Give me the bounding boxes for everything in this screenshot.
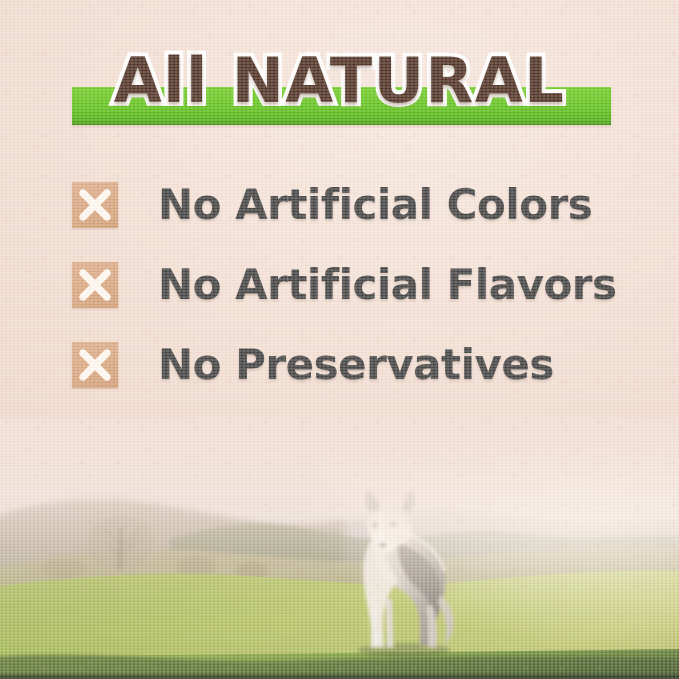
x-mark-icon — [72, 342, 118, 388]
list-item: No Artificial Colors — [72, 182, 632, 262]
feature-label: No Artificial Flavors — [158, 261, 617, 309]
list-item: No Artificial Flavors — [72, 262, 632, 342]
feature-label: No Preservatives — [158, 341, 554, 389]
x-mark-icon — [72, 262, 118, 308]
list-item: No Preservatives — [72, 342, 632, 422]
x-mark-icon — [72, 182, 118, 228]
page-title: All NATURAL — [0, 44, 679, 118]
feature-label: No Artificial Colors — [158, 181, 592, 229]
product-feature-poster: All NATURAL No Artificial Colors — [0, 0, 679, 679]
header-banner: All NATURAL — [0, 44, 679, 140]
photo-bottom-edge — [0, 674, 679, 679]
lifestyle-photo — [0, 419, 679, 679]
